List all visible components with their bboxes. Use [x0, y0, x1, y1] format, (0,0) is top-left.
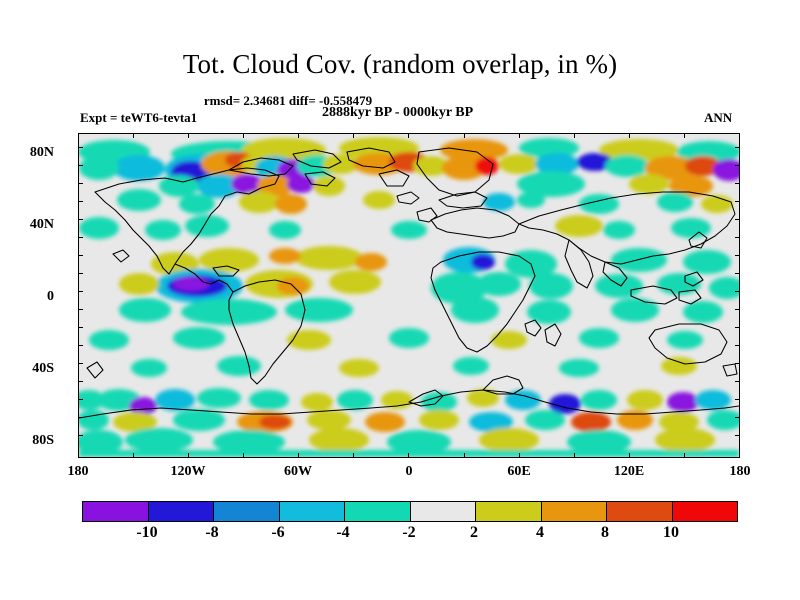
colorbar-label-6: 4 — [510, 524, 570, 542]
xtick-label-120w: 120W — [148, 464, 228, 480]
colorbar-label-8: 10 — [641, 524, 701, 542]
ytick-label-40n: 40N — [0, 218, 54, 232]
xtick-label-60e: 60E — [479, 464, 559, 480]
period-label: 2888kyr BP - 0000kyr BP — [322, 105, 473, 121]
colorbar-label-7: 8 — [575, 524, 635, 542]
colorbar-swatch-9 — [672, 502, 738, 521]
colorbar-swatch-1 — [148, 502, 214, 521]
xtick-label-0: 0 — [369, 464, 449, 480]
colorbar-swatch-7 — [541, 502, 607, 521]
colorbar — [82, 501, 738, 522]
page-title: Tot. Cloud Cov. (random overlap, in %) — [0, 48, 800, 80]
ytick-label-80n: 80N — [0, 146, 54, 160]
colorbar-swatch-4 — [344, 502, 410, 521]
colorbar-label-0: -10 — [117, 524, 177, 542]
xtick-label-60w: 60W — [258, 464, 338, 480]
colorbar-label-5: 2 — [444, 524, 504, 542]
ytick-label-0: 0 — [0, 290, 54, 304]
statistics-label: rmsd= 2.34681 diff= -0.558479 — [0, 93, 576, 108]
colorbar-swatch-3 — [279, 502, 345, 521]
colorbar-label-4: -2 — [379, 524, 439, 542]
map-plot-area — [78, 133, 740, 458]
colorbar-label-2: -6 — [248, 524, 308, 542]
season-label: ANN — [704, 110, 732, 126]
experiment-label: Expt = teWT6-tevta1 — [80, 110, 197, 126]
ytick-label-80s: 80S — [0, 434, 54, 448]
anomaly-field — [79, 134, 739, 457]
colorbar-swatch-0 — [83, 502, 148, 521]
colorbar-label-3: -4 — [313, 524, 373, 542]
colorbar-label-1: -8 — [182, 524, 242, 542]
colorbar-swatch-2 — [213, 502, 279, 521]
colorbar-swatch-6 — [475, 502, 541, 521]
xtick-label-180e: 180 — [700, 464, 780, 480]
ytick-label-40s: 40S — [0, 362, 54, 376]
colorbar-swatch-5 — [410, 502, 476, 521]
colorbar-swatch-8 — [606, 502, 672, 521]
figure-canvas: Tot. Cloud Cov. (random overlap, in %) r… — [0, 0, 800, 600]
xtick-label-180w: 180 — [38, 464, 118, 480]
xtick-label-120e: 120E — [589, 464, 669, 480]
